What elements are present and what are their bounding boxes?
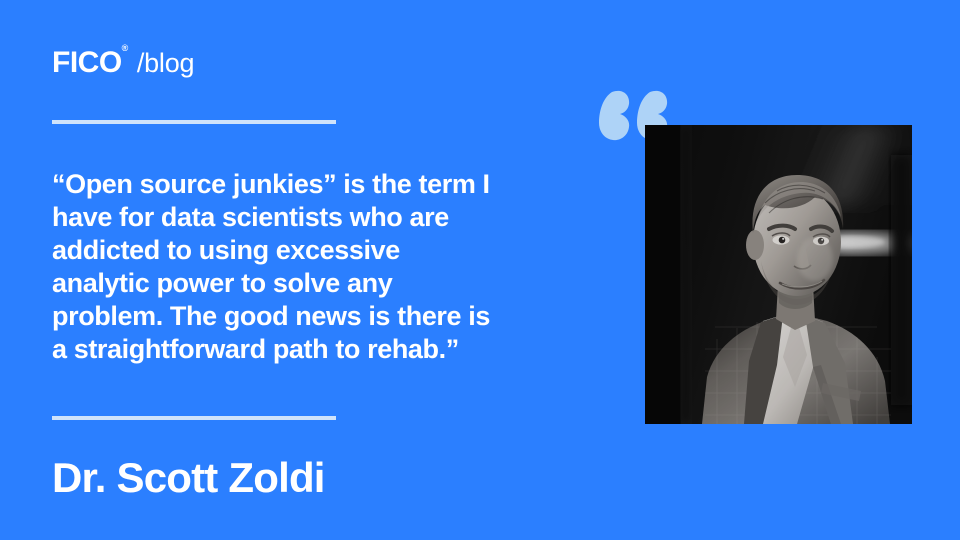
registered-trademark-icon: ® xyxy=(122,43,128,53)
quote-line: have for data scientists who are xyxy=(52,201,552,234)
fico-wordmark: FICO® xyxy=(52,48,128,78)
divider-bottom xyxy=(52,416,336,420)
quote-line: “Open source junkies” is the term I xyxy=(52,168,552,201)
author-portrait-photo xyxy=(645,125,912,424)
author-name: Dr. Scott Zoldi xyxy=(52,455,325,501)
brand-lockup[interactable]: FICO® /blog xyxy=(52,48,194,78)
divider-top xyxy=(52,120,336,124)
quote-line: a straightforward path to rehab.” xyxy=(52,333,552,366)
quote-line: addicted to using excessive xyxy=(52,234,552,267)
quote-line: problem. The good news is there is xyxy=(52,300,552,333)
blog-label: /blog xyxy=(137,50,195,77)
quote-text: “Open source junkies” is the term I have… xyxy=(52,168,552,366)
quote-line: analytic power to solve any xyxy=(52,267,552,300)
quote-card: FICO® /blog “Open source junkies” is the… xyxy=(0,0,960,540)
fico-wordmark-text: FICO xyxy=(52,46,122,79)
